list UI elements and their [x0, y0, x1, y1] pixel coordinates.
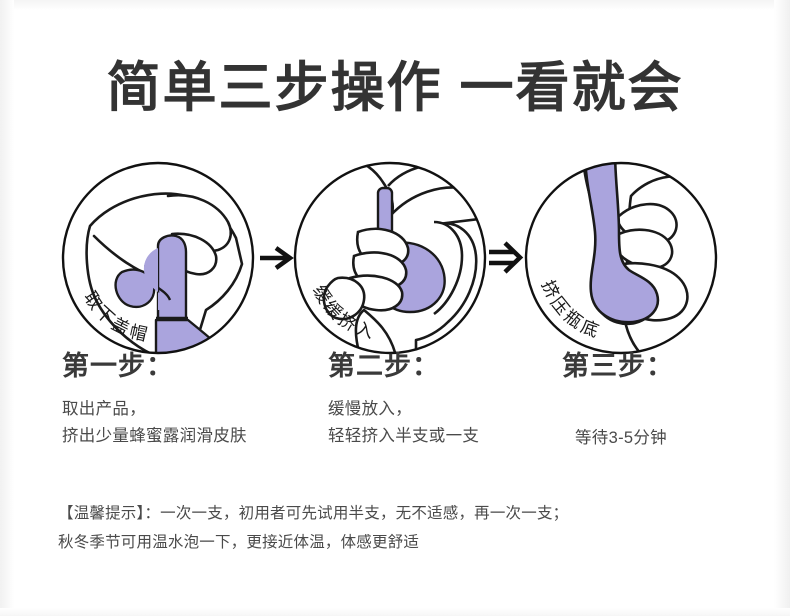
step-3-illustration: 挤压瓶底: [523, 160, 719, 356]
page-title: 简单三步操作 一看就会: [0, 60, 790, 117]
step-1-text: 第一步： 取出产品， 挤出少量蜂蜜露润滑皮肤: [62, 352, 312, 450]
remove-cap-icon: 取下盖帽: [60, 160, 256, 356]
step-2-illustration: 缓缓挤入: [292, 160, 488, 356]
squeeze-in-icon: 缓缓挤入: [292, 160, 488, 356]
step-1-heading: 第一步：: [62, 352, 312, 382]
page-edge-top: [0, 0, 790, 10]
press-bottle-bottom-icon: 挤压瓶底: [523, 160, 719, 356]
step-3-body: 等待3-5分钟: [562, 398, 782, 452]
page-edge-bottom: [0, 608, 790, 616]
promo-page: 简单三步操作 一看就会: [0, 0, 790, 616]
warm-tip-text: 【温馨提示】：一次一支，初用者可先试用半支，无不适感，再一次一支； 秋冬季节可用…: [58, 500, 758, 557]
step-2-heading: 第二步：: [328, 352, 578, 382]
step-3-body-text: 等待3-5分钟: [562, 429, 667, 447]
step-3-heading: 第三步：: [562, 352, 782, 382]
double-arrow-right-icon: [487, 238, 527, 278]
single-arrow-right-icon: [256, 238, 296, 278]
illustration-row: 取下盖帽: [0, 160, 790, 360]
arrow-step2-to-step3: [487, 238, 527, 278]
step-1-illustration: 取下盖帽: [60, 160, 256, 356]
step-1-body: 取出产品， 挤出少量蜂蜜露润滑皮肤: [62, 396, 312, 450]
arrow-step1-to-step2: [256, 238, 296, 278]
step-2-body: 缓慢放入， 轻轻挤入半支或一支: [328, 396, 578, 450]
step-3-text: 第三步： 等待3-5分钟: [562, 352, 782, 452]
step-2-text: 第二步： 缓慢放入， 轻轻挤入半支或一支: [328, 352, 578, 450]
